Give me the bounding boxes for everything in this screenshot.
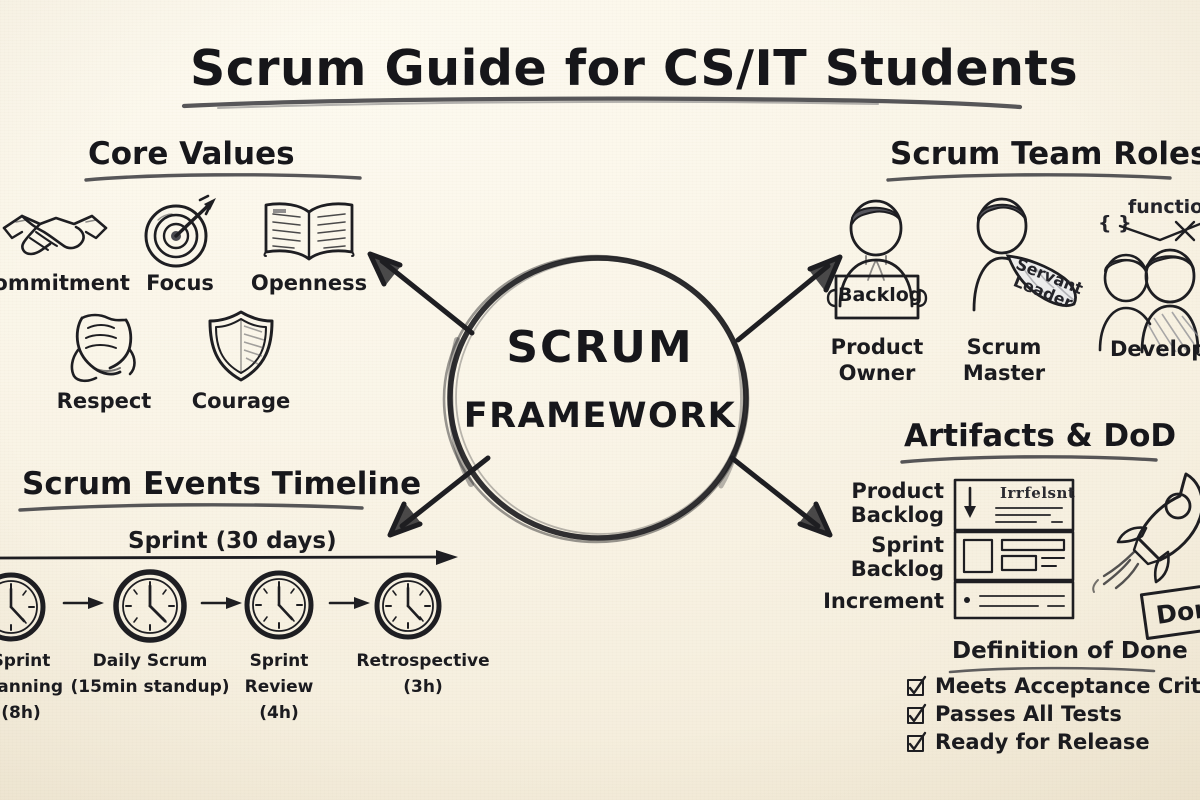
event-label-daily-scrum: Daily Scrum <box>74 652 226 671</box>
event-duration-retrospective: (3h) <box>338 678 508 697</box>
clock-icon <box>110 566 190 646</box>
timeline-step-arrow-3-icon <box>328 592 374 614</box>
events-timeline-heading: Scrum Events Timeline <box>22 466 421 502</box>
artifacts-heading: Artifacts & DoD <box>904 418 1176 454</box>
timeline-step-arrow-2-icon <box>200 592 246 614</box>
sprint-timeline-arrow-icon <box>0 548 472 570</box>
artifact-label-sprint-backlog-line1: Sprint <box>790 534 944 557</box>
checkbox-checked-icon <box>906 731 926 753</box>
artifacts-underline <box>898 454 1160 468</box>
event-label-sprint-review-line1: Sprint <box>214 652 344 671</box>
clock-icon <box>0 570 48 644</box>
dod-item-2-label: Passes All Tests <box>935 702 1122 726</box>
event-duration-sprint-review: (4h) <box>214 704 344 723</box>
dod-item-1: Meets Acceptance Criteria <box>906 674 1200 698</box>
dod-item-3: Ready for Release <box>906 730 1150 754</box>
team-role-label-product-owner-line2: Owner <box>812 362 942 386</box>
artifact-label-increment: Increment <box>782 590 944 613</box>
core-value-label-courage: Courage <box>186 390 296 414</box>
artifact-card-text: Irrfelsnt <box>1000 484 1075 502</box>
team-roles-underline <box>884 172 1174 186</box>
open-book-icon <box>258 198 360 266</box>
team-role-label-scrum-master-line1: Scrum <box>944 336 1064 360</box>
page-title: Scrum Guide for CS/IT Students <box>190 40 1078 97</box>
clock-icon <box>242 568 316 642</box>
artifact-label-sprint-backlog-line2: Backlog <box>790 558 944 581</box>
checkbox-checked-icon <box>906 703 926 725</box>
team-roles-heading: Scrum Team Roles <box>890 136 1200 172</box>
shield-icon <box>202 306 280 386</box>
dod-item-1-label: Meets Acceptance Criteria <box>935 674 1200 698</box>
event-duration-sprint-planning: (8h) <box>0 704 96 723</box>
artifact-label-product-backlog-line2: Backlog <box>790 504 944 527</box>
events-timeline-underline <box>16 502 366 516</box>
timeline-step-arrow-1-icon <box>62 592 108 614</box>
center-title-line2: FRAMEWORK <box>435 396 765 436</box>
scrum-infographic-poster: Scrum Guide for CS/IT Students SCRUM FRA… <box>0 0 1200 800</box>
core-values-underline <box>82 172 364 186</box>
core-value-label-openness: Openness <box>244 272 374 296</box>
artifact-label-product-backlog-line1: Product <box>790 480 944 503</box>
core-values-heading: Core Values <box>88 136 295 172</box>
core-value-label-focus: Focus <box>120 272 240 296</box>
dod-item-2: Passes All Tests <box>906 702 1122 726</box>
core-value-label-respect: Respect <box>44 390 164 414</box>
team-role-label-scrum-master-line2: Master <box>944 362 1064 386</box>
handshake-icon <box>0 198 112 264</box>
backlog-sign-label: Backlog <box>838 284 908 306</box>
dod-item-3-label: Ready for Release <box>935 730 1150 754</box>
target-arrow-icon <box>138 192 222 268</box>
team-role-label-product-owner-line1: Product <box>812 336 942 360</box>
code-angle-bracket-icon <box>1116 212 1200 248</box>
arrow-to-core-values-icon <box>360 245 480 345</box>
clasped-hands-icon <box>58 310 150 384</box>
event-label-sprint-review-line2: Review <box>214 678 344 697</box>
title-underline <box>178 96 1028 114</box>
clock-icon <box>372 570 444 642</box>
event-label-retrospective: Retrospective <box>338 652 508 671</box>
checkbox-checked-icon <box>906 675 926 697</box>
definition-of-done-heading: Definition of Done <box>952 638 1188 664</box>
center-title-line1: SCRUM <box>435 322 765 373</box>
team-role-label-developers: Developers <box>1110 338 1200 362</box>
event-duration-daily-scrum: (15min standup) <box>66 678 234 697</box>
